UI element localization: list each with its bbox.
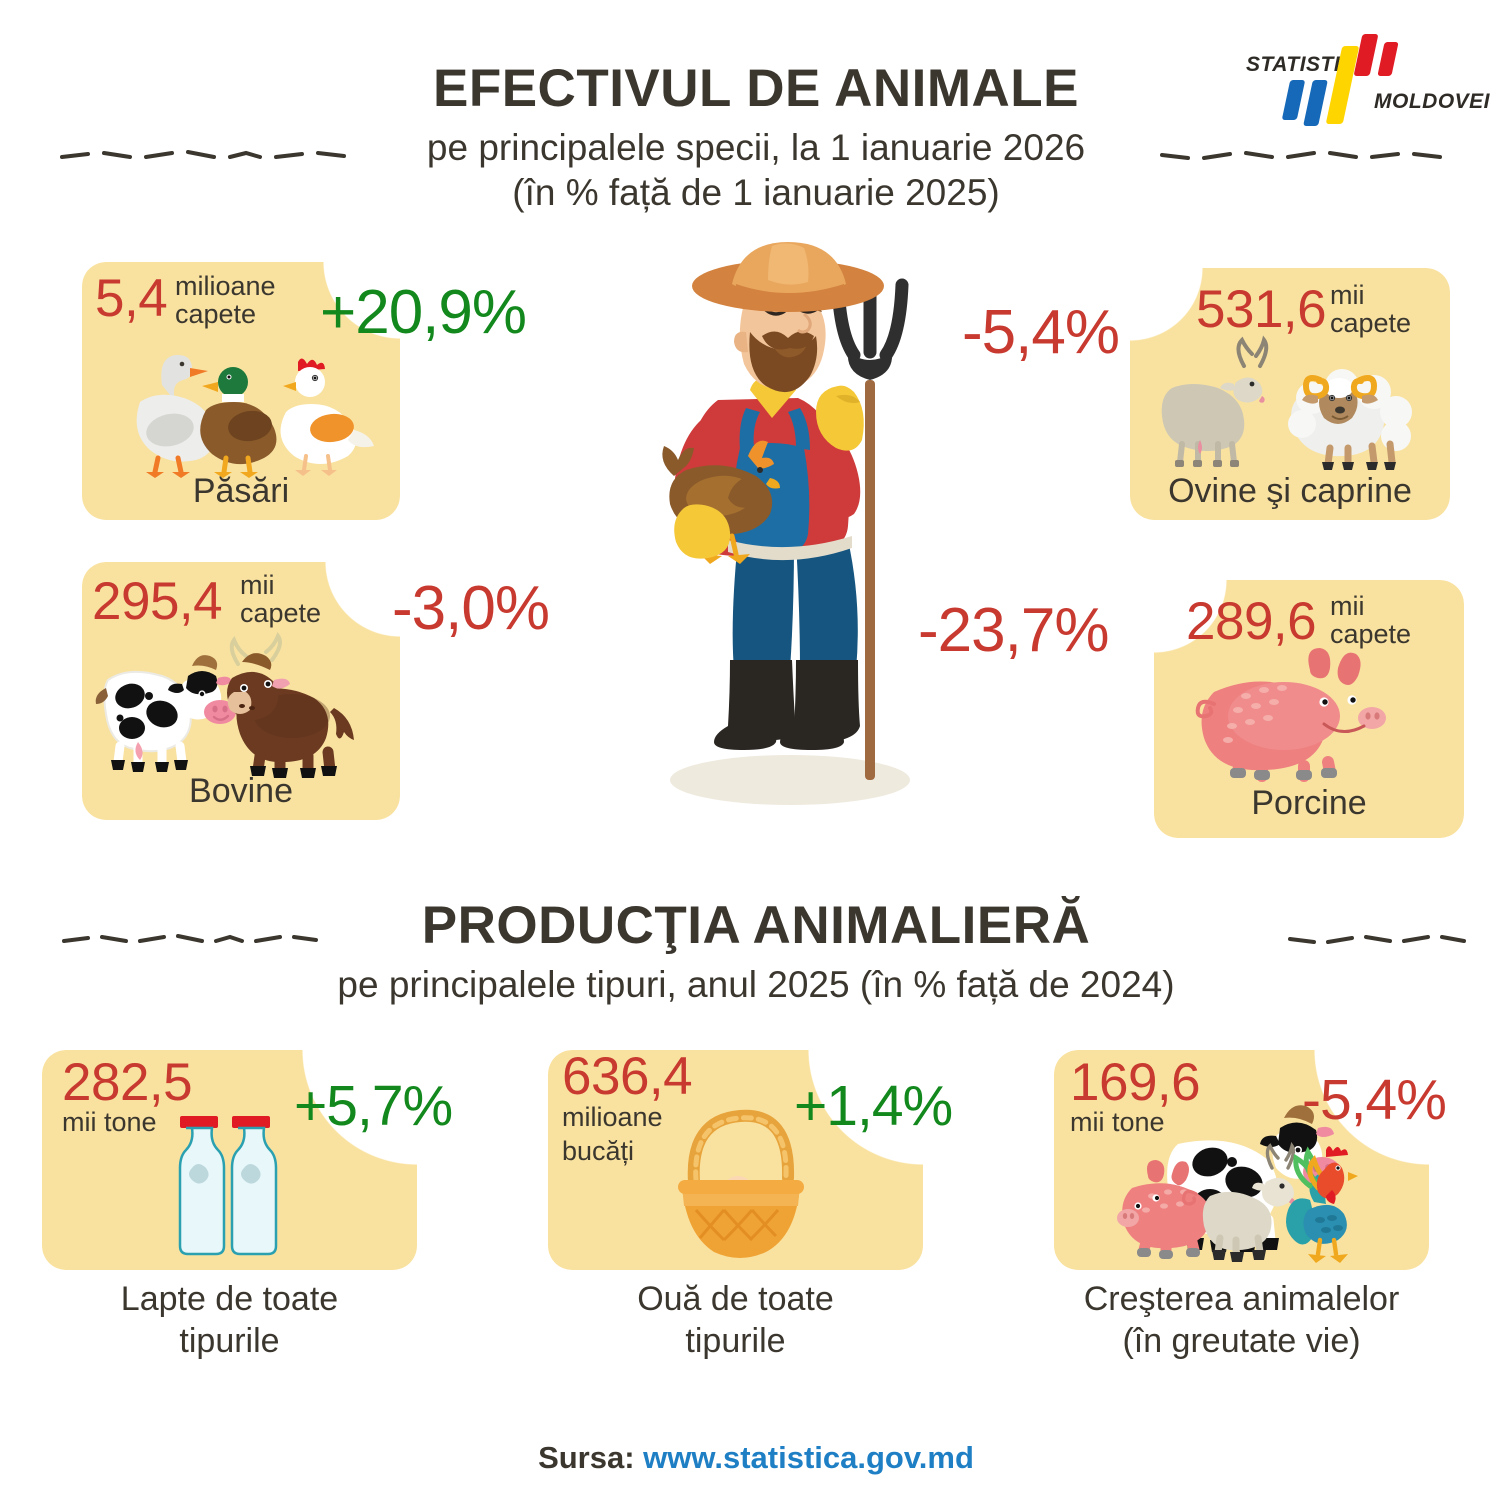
card-lapte-label-line2: tipurile (42, 1320, 417, 1363)
card-pasari-value: 5,4 (95, 272, 167, 325)
card-porcine-unit-line1: mii (1330, 592, 1365, 620)
card-cresterea-value: 169,6 (1070, 1056, 1200, 1109)
dashed-line-left-2 (62, 930, 332, 934)
source-url[interactable]: www.statistica.gov.md (643, 1440, 974, 1475)
card-ovine-caprine-percent: -5,4% (962, 302, 1119, 364)
card-pasari-unit-line2: capete (175, 300, 256, 328)
sheep-shape (1288, 369, 1412, 470)
source-line: Sursa: www.statistica.gov.md (0, 1440, 1512, 1476)
card-cresterea-label-line2: (în greutate vie) (1054, 1320, 1429, 1363)
card-porcine-label: Porcine (1154, 782, 1464, 825)
card-lapte-unit-line1: mii tone (62, 1108, 157, 1136)
milk-bottle-left (180, 1116, 224, 1254)
pig-icon (1184, 630, 1424, 780)
farmer-illustration (600, 240, 980, 820)
infographic-page: STATISTICA MOLDOVEI EFECTIVUL DE ANIMALE… (0, 0, 1512, 1512)
card-oua-label-line1: Ouă de toate (548, 1278, 923, 1321)
card-cresterea-label-line1: Creşterea animalelor (1054, 1278, 1429, 1321)
card-ovine-caprine-value: 531,6 (1196, 283, 1326, 336)
cow-shape (96, 655, 236, 772)
section-2-heading: PRODUCŢIA ANIMALIERĂ pe principalele tip… (0, 895, 1512, 1007)
milk-bottle-right (232, 1116, 276, 1254)
card-lapte-value: 282,5 (62, 1056, 192, 1109)
chicken-shape (281, 358, 374, 476)
card-bovine-unit-line1: mii (240, 571, 275, 599)
source-label: Sursa: (538, 1440, 634, 1475)
egg-basket-icon (666, 1096, 816, 1258)
section-1-title: EFECTIVUL DE ANIMALE (0, 58, 1512, 119)
card-oua-label-line2: tipurile (548, 1320, 923, 1363)
card-lapte-percent: +5,7% (294, 1078, 452, 1135)
goose-shape (137, 355, 215, 478)
goat-sheep-icon (1150, 336, 1440, 476)
duck-shape (200, 367, 276, 478)
card-lapte-label-line1: Lapte de toate (42, 1278, 417, 1321)
card-oua-unit-line2: bucăți (562, 1137, 634, 1165)
card-bovine-percent: -3,0% (392, 578, 549, 640)
cattle-icon (92, 618, 392, 778)
farm-animals-icon (1118, 1110, 1398, 1268)
card-oua-unit-line1: milioane (562, 1103, 663, 1131)
section-2-subtitle-line1: pe principalele tipuri, anul 2025 (în % … (0, 962, 1512, 1007)
goat-shape (1162, 340, 1267, 467)
bull-shape (227, 636, 354, 778)
poultry-icon (110, 330, 380, 480)
section-1-subtitle-line2: (în % față de 1 ianuarie 2025) (0, 170, 1512, 215)
card-ovine-caprine-unit-line2: capete (1330, 309, 1411, 337)
milk-bottles-icon (170, 1110, 300, 1260)
card-pasari-unit-line1: milioane (175, 272, 276, 300)
card-oua-percent: +1,4% (794, 1078, 952, 1135)
pig-shape (1198, 648, 1386, 780)
card-ovine-caprine-unit-line1: mii (1330, 281, 1365, 309)
dashed-line-right-1 (1160, 146, 1460, 150)
section-1-heading: EFECTIVUL DE ANIMALE pe principalele spe… (0, 58, 1512, 215)
dashed-line-right-2 (1288, 930, 1468, 934)
card-ovine-caprine-label: Ovine şi caprine (1130, 470, 1450, 513)
dashed-line-left-1 (60, 146, 360, 150)
